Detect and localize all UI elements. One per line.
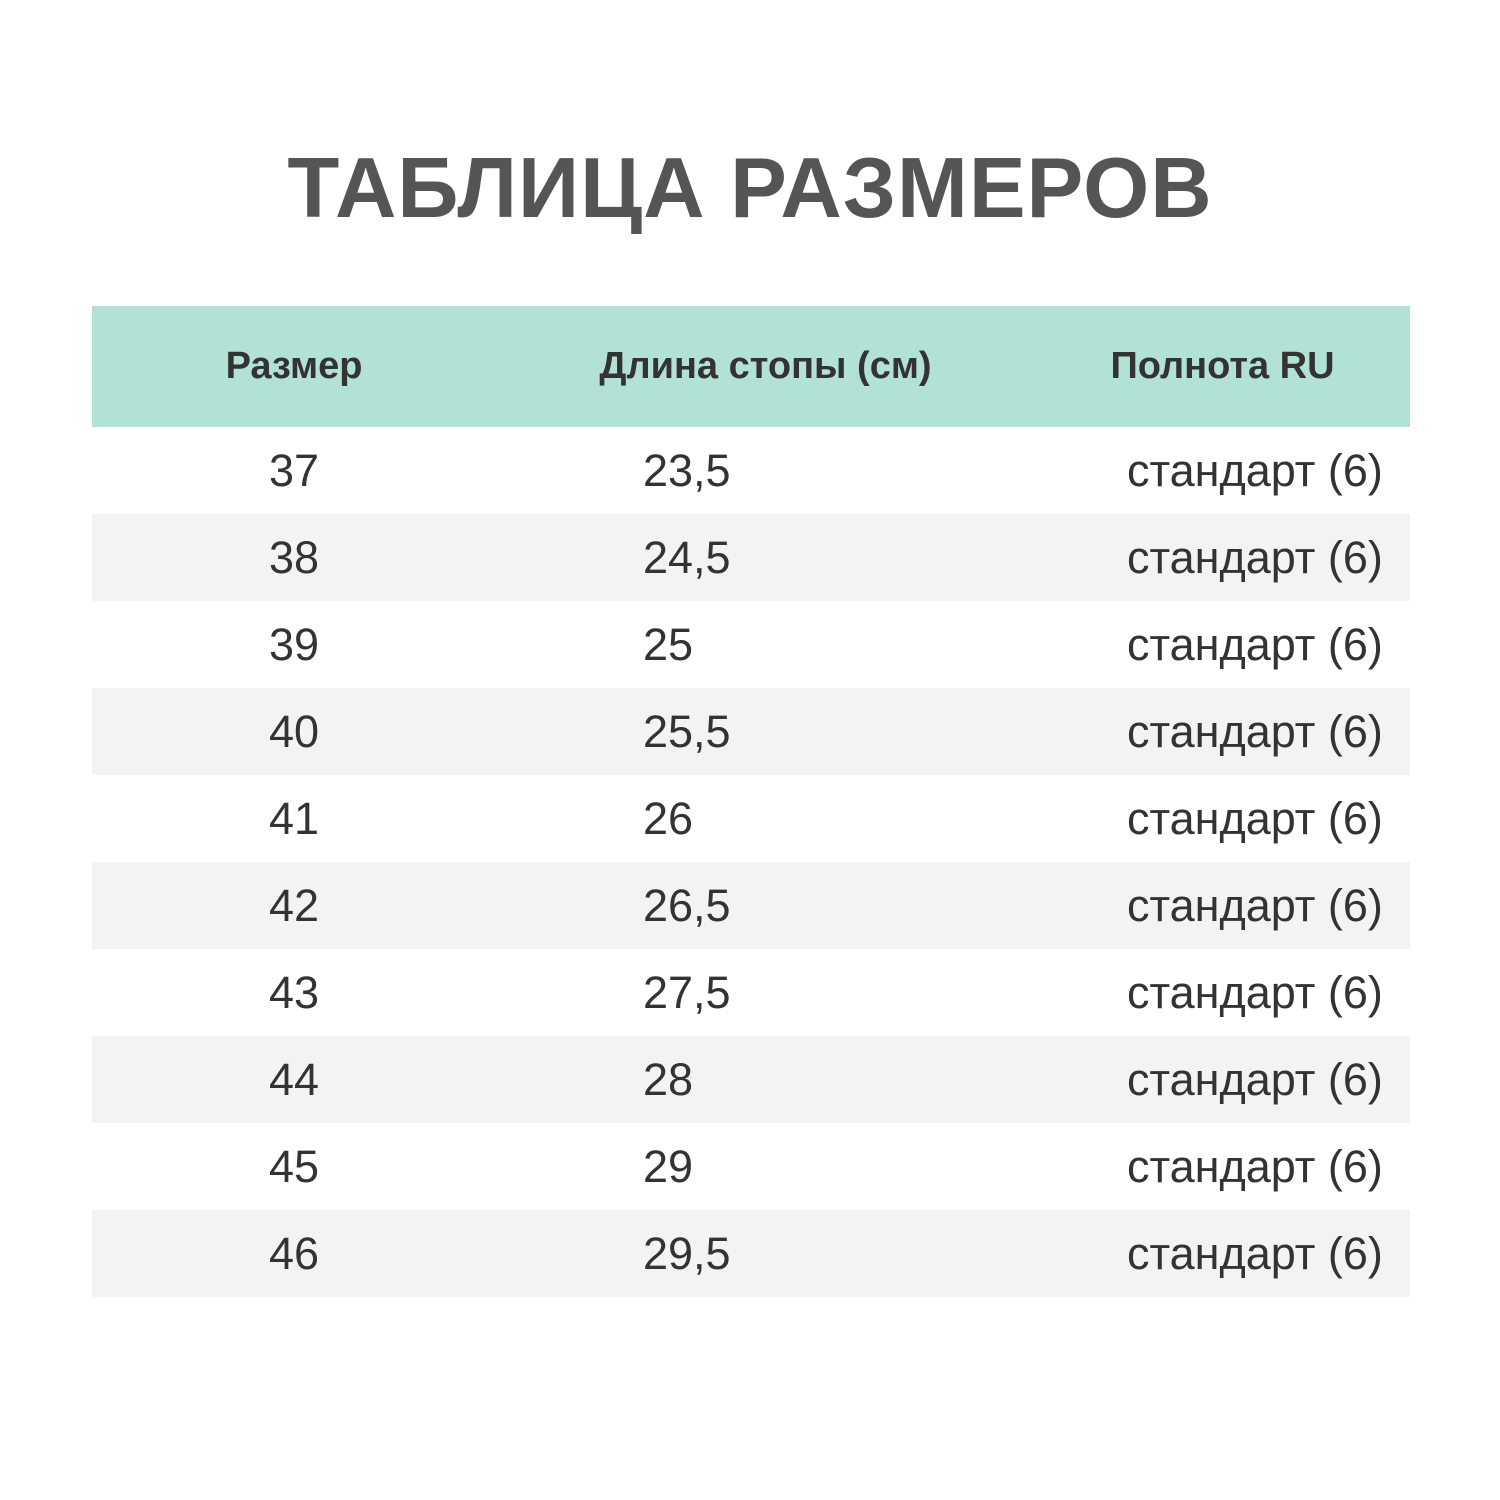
table-row: 4327,5стандарт (6) <box>92 949 1410 1036</box>
cell-size: 38 <box>92 514 496 601</box>
cell-foot-length: 26,5 <box>496 862 1035 949</box>
table-row: 3824,5стандарт (6) <box>92 514 1410 601</box>
cell-foot-length: 28 <box>496 1036 1035 1123</box>
cell-width-ru: стандарт (6) <box>1035 1123 1410 1210</box>
cell-width-ru: стандарт (6) <box>1035 688 1410 775</box>
cell-foot-length: 29 <box>496 1123 1035 1210</box>
cell-foot-length: 25,5 <box>496 688 1035 775</box>
cell-size: 43 <box>92 949 496 1036</box>
cell-size: 46 <box>92 1210 496 1297</box>
cell-width-ru: стандарт (6) <box>1035 1210 1410 1297</box>
table-row: 4629,5стандарт (6) <box>92 1210 1410 1297</box>
cell-width-ru: стандарт (6) <box>1035 427 1410 514</box>
cell-foot-length: 25 <box>496 601 1035 688</box>
table-row: 3723,5стандарт (6) <box>92 427 1410 514</box>
cell-size: 37 <box>92 427 496 514</box>
size-chart-page: ТАБЛИЦА РАЗМЕРОВ Размер Длина стопы (см)… <box>0 0 1500 1500</box>
column-header-size: Размер <box>92 306 496 427</box>
cell-width-ru: стандарт (6) <box>1035 514 1410 601</box>
table-row: 4226,5стандарт (6) <box>92 862 1410 949</box>
table-header-row: Размер Длина стопы (см) Полнота RU <box>92 306 1410 427</box>
cell-size: 39 <box>92 601 496 688</box>
table-row: 4529стандарт (6) <box>92 1123 1410 1210</box>
cell-foot-length: 29,5 <box>496 1210 1035 1297</box>
cell-size: 45 <box>92 1123 496 1210</box>
column-header-width-ru: Полнота RU <box>1035 306 1410 427</box>
table-row: 4126стандарт (6) <box>92 775 1410 862</box>
cell-width-ru: стандарт (6) <box>1035 775 1410 862</box>
size-table: Размер Длина стопы (см) Полнота RU 3723,… <box>92 306 1410 1297</box>
cell-foot-length: 26 <box>496 775 1035 862</box>
cell-foot-length: 27,5 <box>496 949 1035 1036</box>
cell-size: 42 <box>92 862 496 949</box>
cell-width-ru: стандарт (6) <box>1035 862 1410 949</box>
cell-foot-length: 23,5 <box>496 427 1035 514</box>
table-body: 3723,5стандарт (6)3824,5стандарт (6)3925… <box>92 427 1410 1297</box>
cell-size: 44 <box>92 1036 496 1123</box>
cell-width-ru: стандарт (6) <box>1035 949 1410 1036</box>
cell-width-ru: стандарт (6) <box>1035 601 1410 688</box>
table-row: 4428стандарт (6) <box>92 1036 1410 1123</box>
table-row: 3925стандарт (6) <box>92 601 1410 688</box>
cell-width-ru: стандарт (6) <box>1035 1036 1410 1123</box>
cell-foot-length: 24,5 <box>496 514 1035 601</box>
table-row: 4025,5стандарт (6) <box>92 688 1410 775</box>
cell-size: 41 <box>92 775 496 862</box>
column-header-foot-length: Длина стопы (см) <box>496 306 1035 427</box>
table-header: Размер Длина стопы (см) Полнота RU <box>92 306 1410 427</box>
cell-size: 40 <box>92 688 496 775</box>
page-title: ТАБЛИЦА РАЗМЕРОВ <box>0 140 1500 238</box>
